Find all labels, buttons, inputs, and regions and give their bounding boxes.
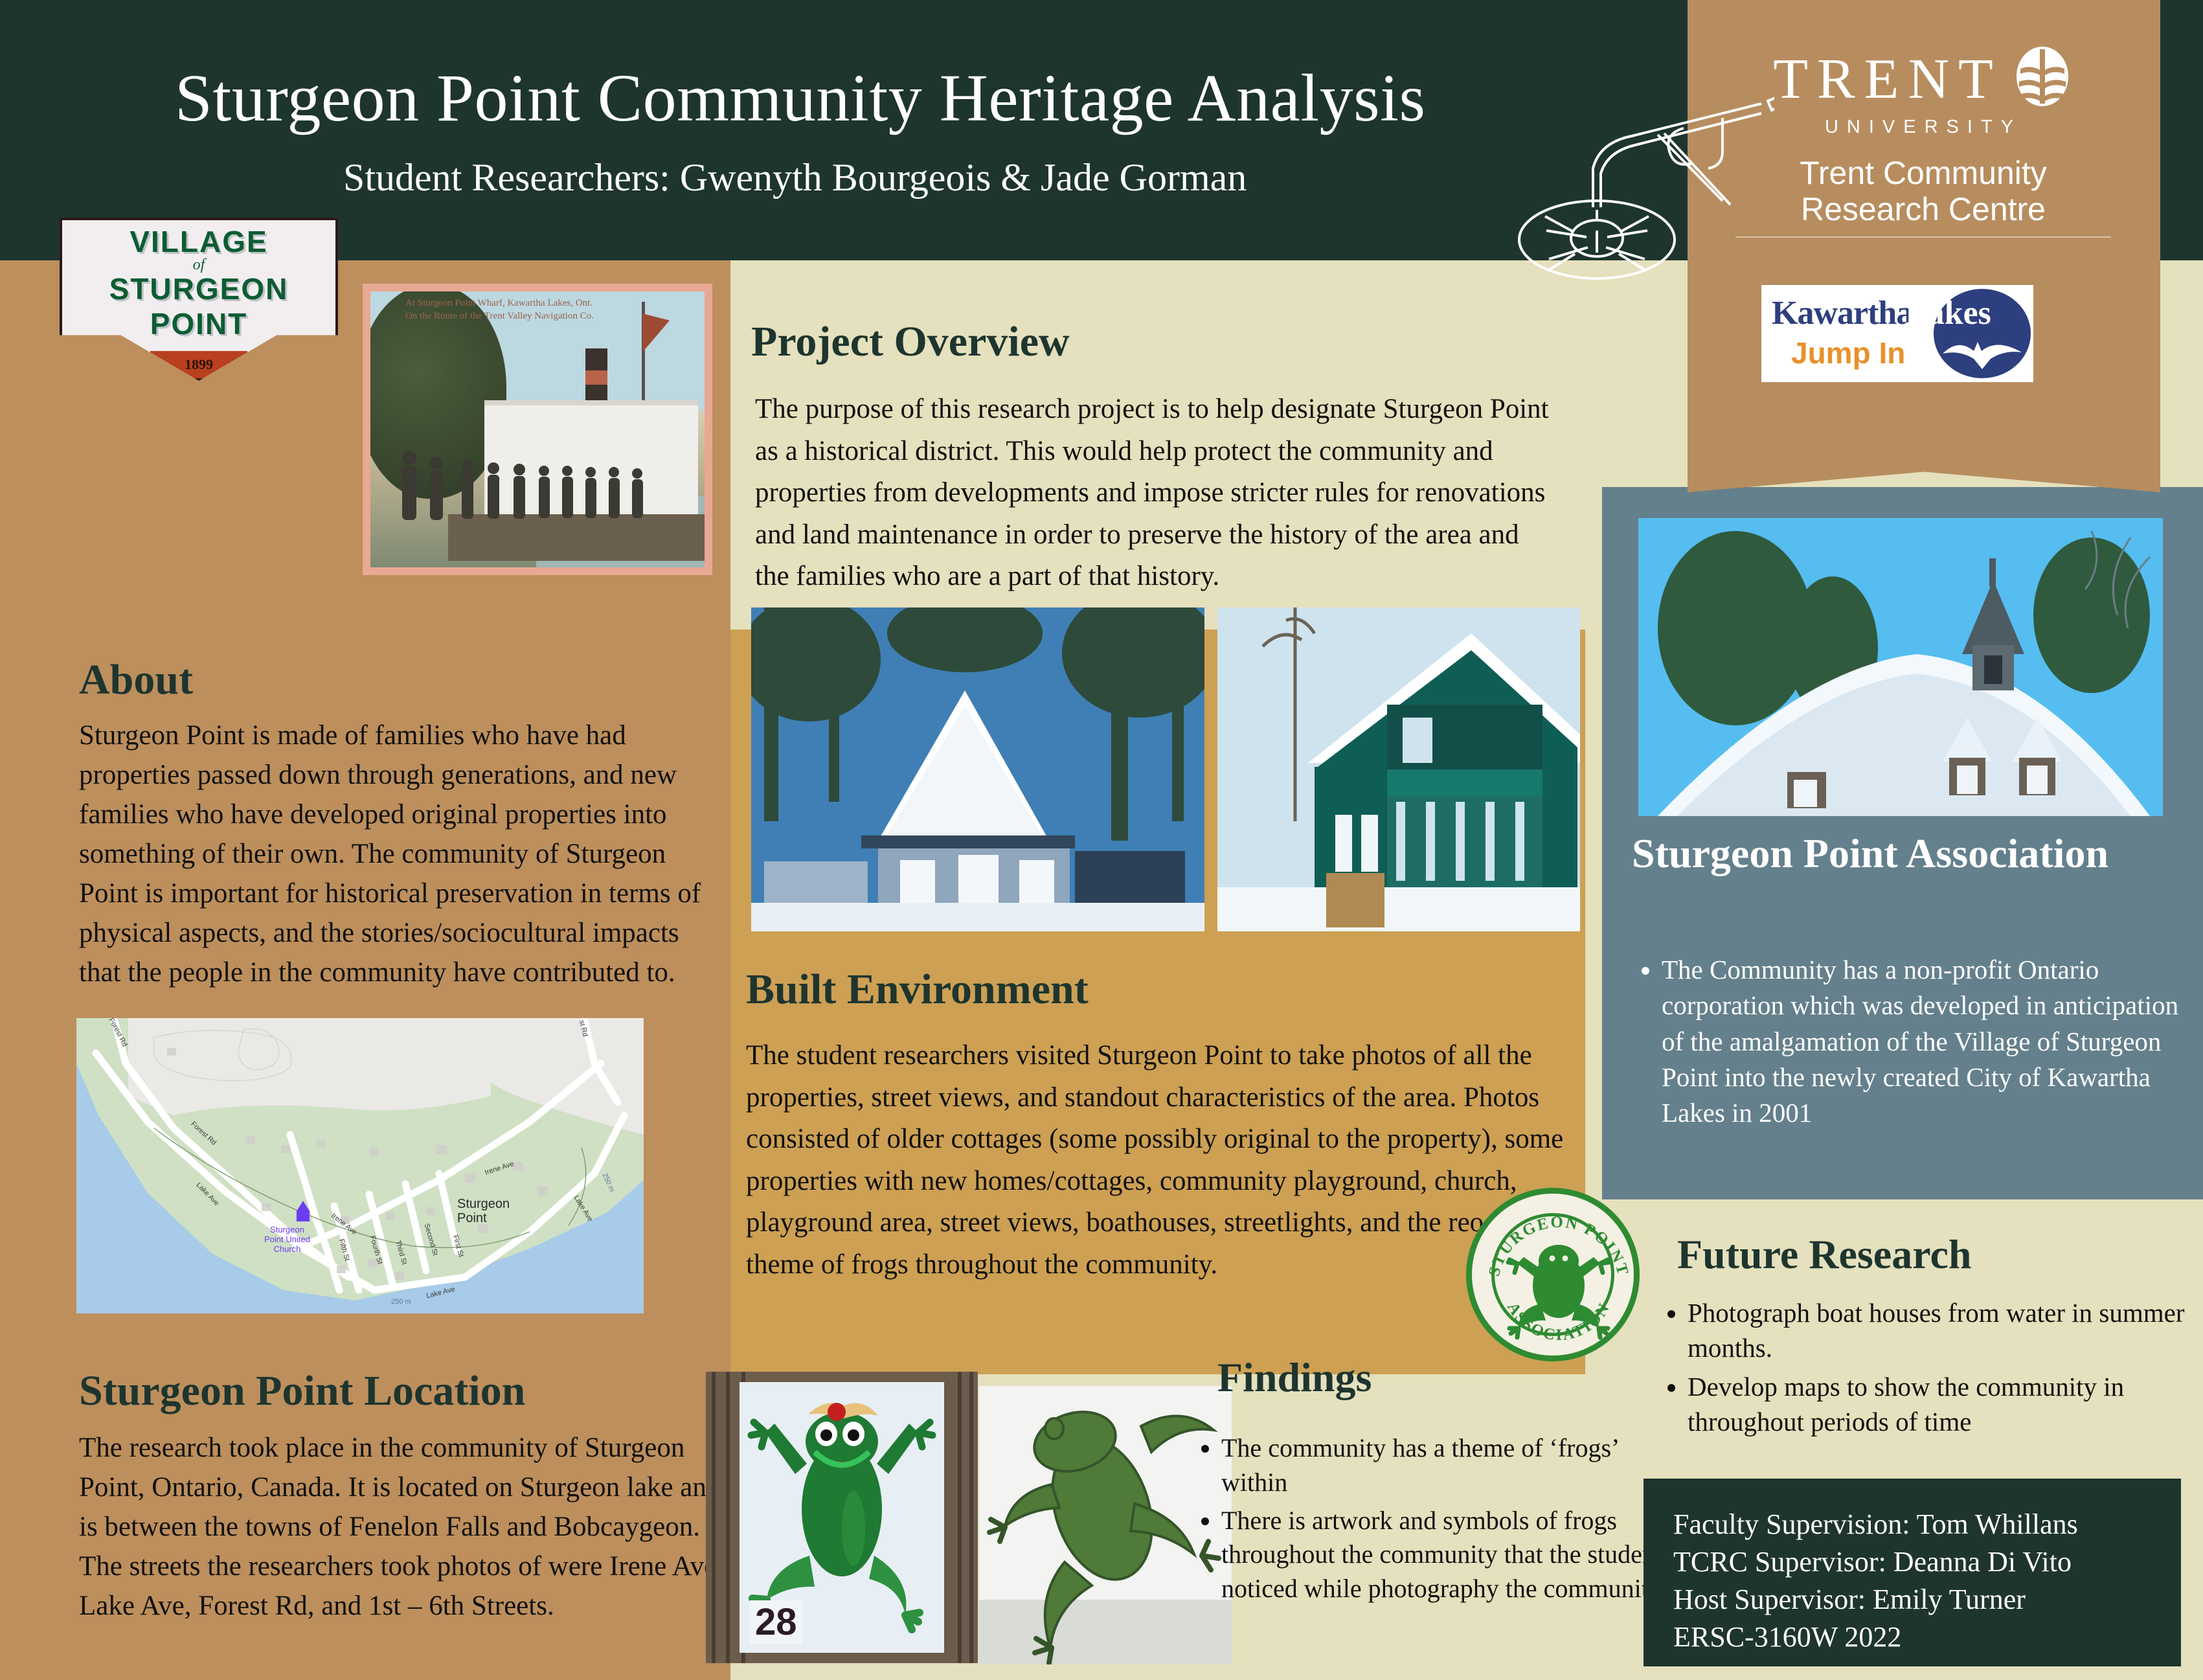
trent-university-logo: TRENT UNIVERSITY Trent Community Researc… [1723,45,2124,238]
lakes-word: Lakes [1905,294,1991,332]
sturgeon-point-association-seal: STURGEON POINT ASSOCIATION [1466,1188,1640,1361]
location-heading: Sturgeon Point Location [79,1367,525,1416]
tcrc-line-2: Research Centre [1723,191,2124,227]
findings-heading: Findings [1217,1354,1372,1402]
postcard-caption-line-1: At Sturgeon Point Wharf, Kawartha Lakes,… [405,297,701,310]
list-item: There is artwork and symbols of frogs th… [1221,1504,1675,1606]
association-heading: Sturgeon Point Association [1632,829,2163,878]
trent-crest-icon [2011,45,2073,113]
kawartha-lakes-logo: Kawartha Lakes Jump In [1761,285,2033,382]
credits-box: Faculty Supervision: Tom Whillans TCRC S… [1644,1479,2181,1666]
photo-frog-sign-on-tree: 28 [706,1372,978,1663]
blue-cottage-graphic [751,607,1204,931]
jump-in-tagline: Jump In [1791,335,1905,370]
house-number: 28 [750,1600,802,1644]
photo-green-cottage [1217,607,1580,931]
green-cottage-graphic [1217,607,1580,931]
eagle-icon [1941,334,2023,370]
findings-bullet-list: The community has a theme of ‘frogs’ wit… [1192,1431,1675,1610]
postcard-crowd [396,441,688,522]
trent-wordmark: TRENT [1773,47,2002,112]
future-research-heading: Future Research [1677,1231,1971,1278]
map-graphic [76,1018,644,1313]
frog-house-number-sign: 28 [740,1382,944,1653]
postcard-caption-line-2: On the Route of the Trent Valley Navigat… [405,310,701,323]
faculty-supervision: Faculty Supervision: Tom Whillans [1673,1506,2181,1543]
host-supervisor: Host Supervisor: Emily Turner [1673,1581,2181,1618]
about-heading: About [79,655,193,705]
seal-frog-icon: STURGEON POINT ASSOCIATION [1472,1194,1645,1367]
research-poster: Sturgeon Point Community Heritage Analys… [0,0,2203,1680]
sign-line-village: VILLAGE [60,224,338,259]
association-bullet-list: The Community has a non-profit Ontario c… [1632,952,2186,1135]
trent-university-label: UNIVERSITY [1723,117,2124,138]
historic-postcard-photo: At Sturgeon Point Wharf, Kawartha Lakes,… [363,284,712,575]
built-environment-text: The student researchers visited Sturgeon… [746,1035,1588,1286]
future-research-bullet-list: Photograph boat houses from water in sum… [1658,1295,2203,1443]
photo-sturgeon-point-church [1638,518,2163,816]
church-graphic [1638,518,2163,816]
list-item: The Community has a non-profit Ontario c… [1662,952,2186,1131]
about-text: Sturgeon Point is made of families who h… [79,716,727,992]
list-item: Develop maps to show the community in th… [1688,1369,2203,1439]
project-overview-heading: Project Overview [751,317,1070,367]
tcrc-supervisor: TCRC Supervisor: Deanna Di Vito [1673,1543,2181,1581]
photo-blue-cottage [751,607,1204,931]
course-code: ERSC-3160W 2022 [1673,1618,2181,1656]
sign-line-sturgeon: STURGEON [60,271,338,306]
list-item: Photograph boat houses from water in sum… [1688,1295,2203,1365]
list-item: The community has a theme of ‘frogs’ wit… [1221,1431,1675,1500]
logo-divider [1735,236,2111,238]
location-text: The research took place in the community… [79,1428,727,1626]
project-overview-text: The purpose of this research project is … [755,389,1558,598]
sturgeon-point-map[interactable]: Forest Rd Forest Rd Lake Ave Irene Ave I… [76,1018,644,1313]
streetlight-icon [1269,78,1774,311]
tcrc-line-1: Trent Community [1723,155,2124,191]
postcard-caption: At Sturgeon Point Wharf, Kawartha Lakes,… [405,297,701,323]
kawartha-word: Kawartha [1772,294,1912,332]
built-environment-heading: Built Environment [746,965,1089,1014]
